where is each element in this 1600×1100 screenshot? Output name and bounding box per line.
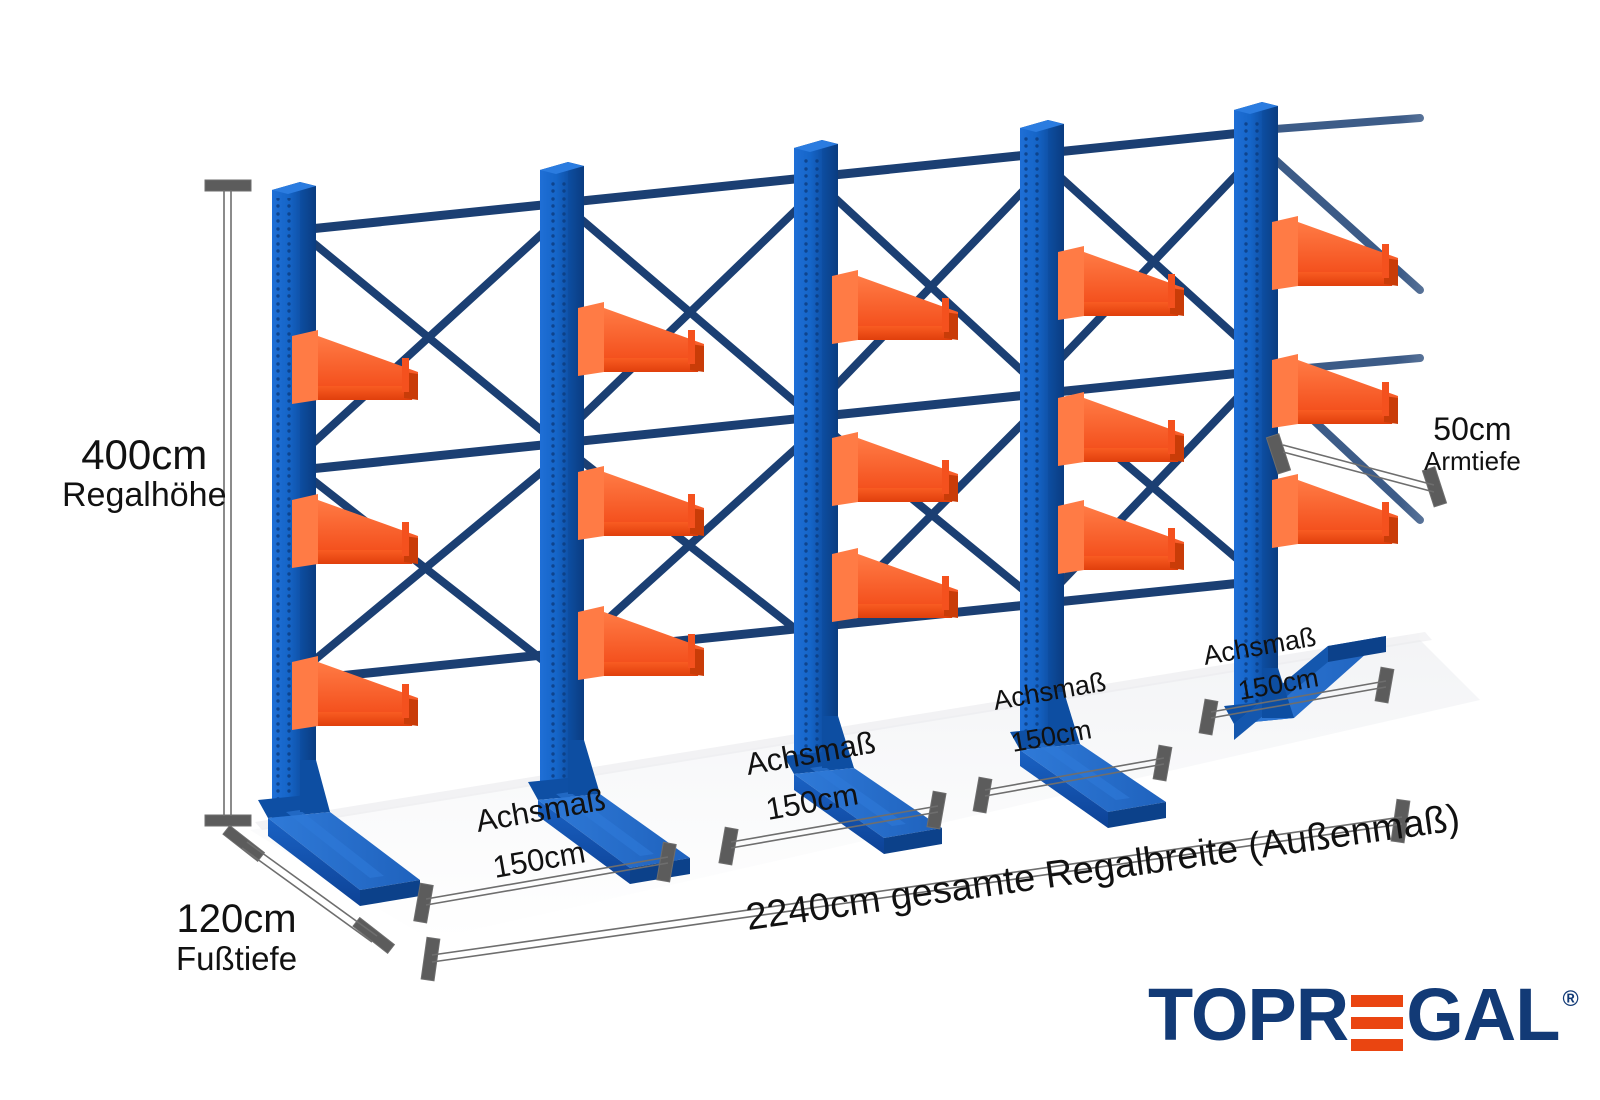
registered-trademark-symbol: ® — [1562, 986, 1578, 1012]
logo-text-part1: TOPR — [1148, 978, 1348, 1052]
logo-text-part2: GAL — [1406, 978, 1559, 1052]
column-2 — [540, 162, 584, 798]
arm-c3-l2 — [832, 432, 958, 506]
arm-c2-l3 — [578, 606, 704, 680]
arm-c1-l2 — [292, 494, 418, 568]
column-5 — [1234, 102, 1278, 718]
column-3 — [794, 140, 838, 770]
arm-c2-l2 — [578, 466, 704, 540]
arm-c4-l2 — [1058, 392, 1184, 466]
topregal-logo: TOPR GAL ® — [1148, 978, 1579, 1052]
arm-c1-l1 — [292, 330, 418, 404]
arm-c4-l1 — [1058, 246, 1184, 320]
arm-c5-l1 — [1272, 216, 1398, 290]
diagram-canvas: Achsmaß 150cm Achsmaß 150cm Achsmaß 150c… — [0, 0, 1600, 1100]
column-4 — [1020, 120, 1064, 744]
arm-c4-l3 — [1058, 500, 1184, 574]
label-arm-depth: 50cm Armtiefe — [1424, 412, 1521, 475]
logo-e-bars-icon — [1351, 995, 1403, 1051]
label-height: 400cm Regalhöhe — [62, 432, 226, 514]
arm-c3-l3 — [832, 548, 958, 622]
label-foot-depth: 120cm Fußtiefe — [176, 898, 297, 977]
